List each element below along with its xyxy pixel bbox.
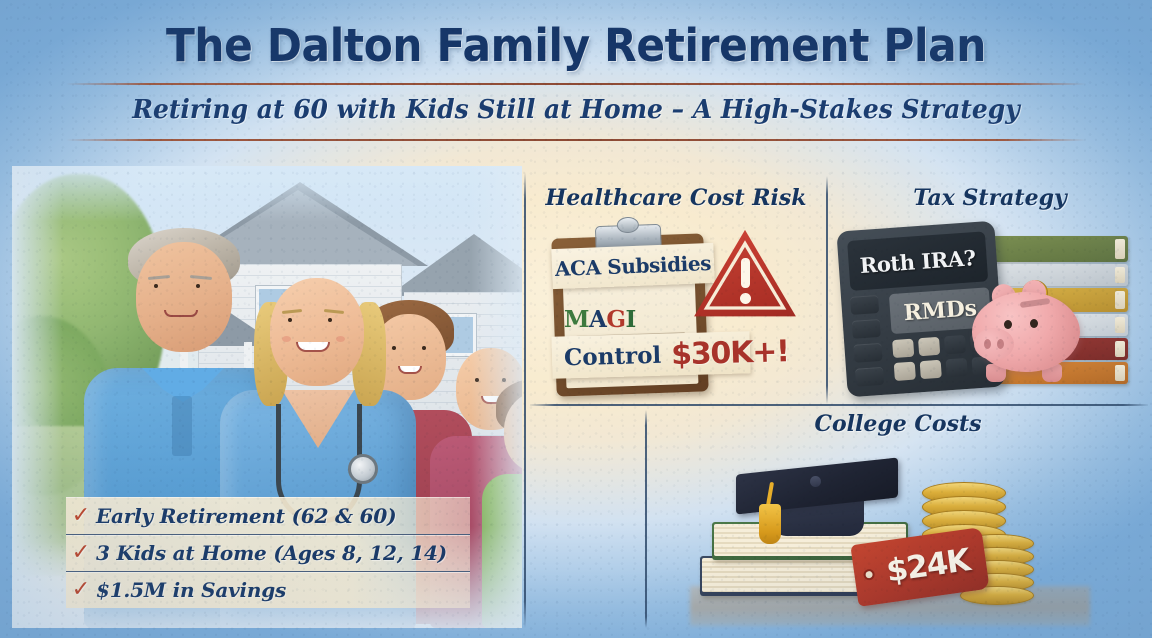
divider-vertical-top: [826, 176, 828, 404]
panel-title: Healthcare Cost Risk: [530, 186, 822, 210]
list-item-label: $1.5M in Savings: [96, 578, 286, 602]
tax-illustration: Roth IRA? RMDs: [838, 220, 1138, 398]
divider-vertical-main: [524, 172, 526, 628]
face: [270, 278, 364, 386]
panel-title: College Costs: [650, 412, 1146, 436]
check-icon: ✓: [66, 505, 96, 527]
list-item-label: Early Retirement (62 & 60): [96, 504, 396, 528]
warning-triangle-icon: [692, 228, 798, 322]
aca-subsidies-label: ACA Subsidies: [555, 251, 712, 281]
magi-letter-a: A: [589, 306, 606, 333]
tag-hole: [863, 568, 875, 580]
face: [136, 242, 232, 352]
healthcare-illustration: ACA Subsidies MAGI Control $30K+!: [540, 222, 820, 394]
control-cost-note: Control $30K+!: [551, 331, 750, 379]
panel-heading-college: College Costs: [650, 412, 1146, 445]
control-label: Control: [564, 341, 662, 371]
divider-horizontal-mid: [530, 404, 1148, 406]
panel-heading-healthcare: Healthcare Cost Risk: [530, 186, 822, 219]
list-item: ✓ $1.5M in Savings: [66, 571, 470, 608]
check-icon: ✓: [66, 542, 96, 564]
highlights-checklist: ✓ Early Retirement (62 & 60) ✓ 3 Kids at…: [66, 497, 470, 608]
calculator-display-text: Roth IRA?: [859, 245, 976, 278]
college-price-amount: $24K: [884, 542, 971, 589]
piggy-bank-icon: [964, 278, 1086, 382]
tassel-icon: [764, 482, 776, 540]
healthcare-cost-amount: $30K+!: [671, 334, 789, 372]
placket: [172, 396, 192, 456]
college-illustration: $24K: [690, 448, 1090, 626]
header-rule-bottom: [66, 139, 1086, 141]
magi-letter-m: M: [564, 306, 589, 333]
panel-title: Tax Strategy: [832, 186, 1148, 210]
divider-vertical-college: [645, 410, 647, 628]
graduation-cap-icon: [736, 466, 898, 528]
stethoscope-bell-icon: [348, 454, 378, 484]
aca-subsidies-note: ACA Subsidies: [551, 243, 714, 289]
infographic-canvas: The Dalton Family Retirement Plan Retiri…: [0, 0, 1152, 638]
header: The Dalton Family Retirement Plan Retiri…: [0, 0, 1152, 160]
page-title: The Dalton Family Retirement Plan: [35, 22, 1118, 69]
calculator-side-keys: [850, 295, 890, 389]
list-item: ✓ 3 Kids at Home (Ages 8, 12, 14): [66, 534, 470, 571]
shirt: [482, 474, 522, 628]
panel-heading-tax: Tax Strategy: [832, 186, 1148, 219]
list-item: ✓ Early Retirement (62 & 60): [66, 497, 470, 534]
child-young-boy: [482, 378, 522, 628]
list-item-label: 3 Kids at Home (Ages 8, 12, 14): [96, 541, 447, 565]
check-icon: ✓: [66, 579, 96, 601]
page-subtitle: Retiring at 60 with Kids Still at Home –…: [23, 85, 1129, 126]
panel-title-rule: [722, 443, 1074, 445]
panel-title-rule: [545, 217, 807, 219]
panel-title-rule: [847, 217, 1133, 219]
magi-letter-g: G: [606, 306, 625, 333]
magi-letter-i: I: [625, 306, 635, 333]
magi-label: MAGI: [564, 306, 636, 333]
